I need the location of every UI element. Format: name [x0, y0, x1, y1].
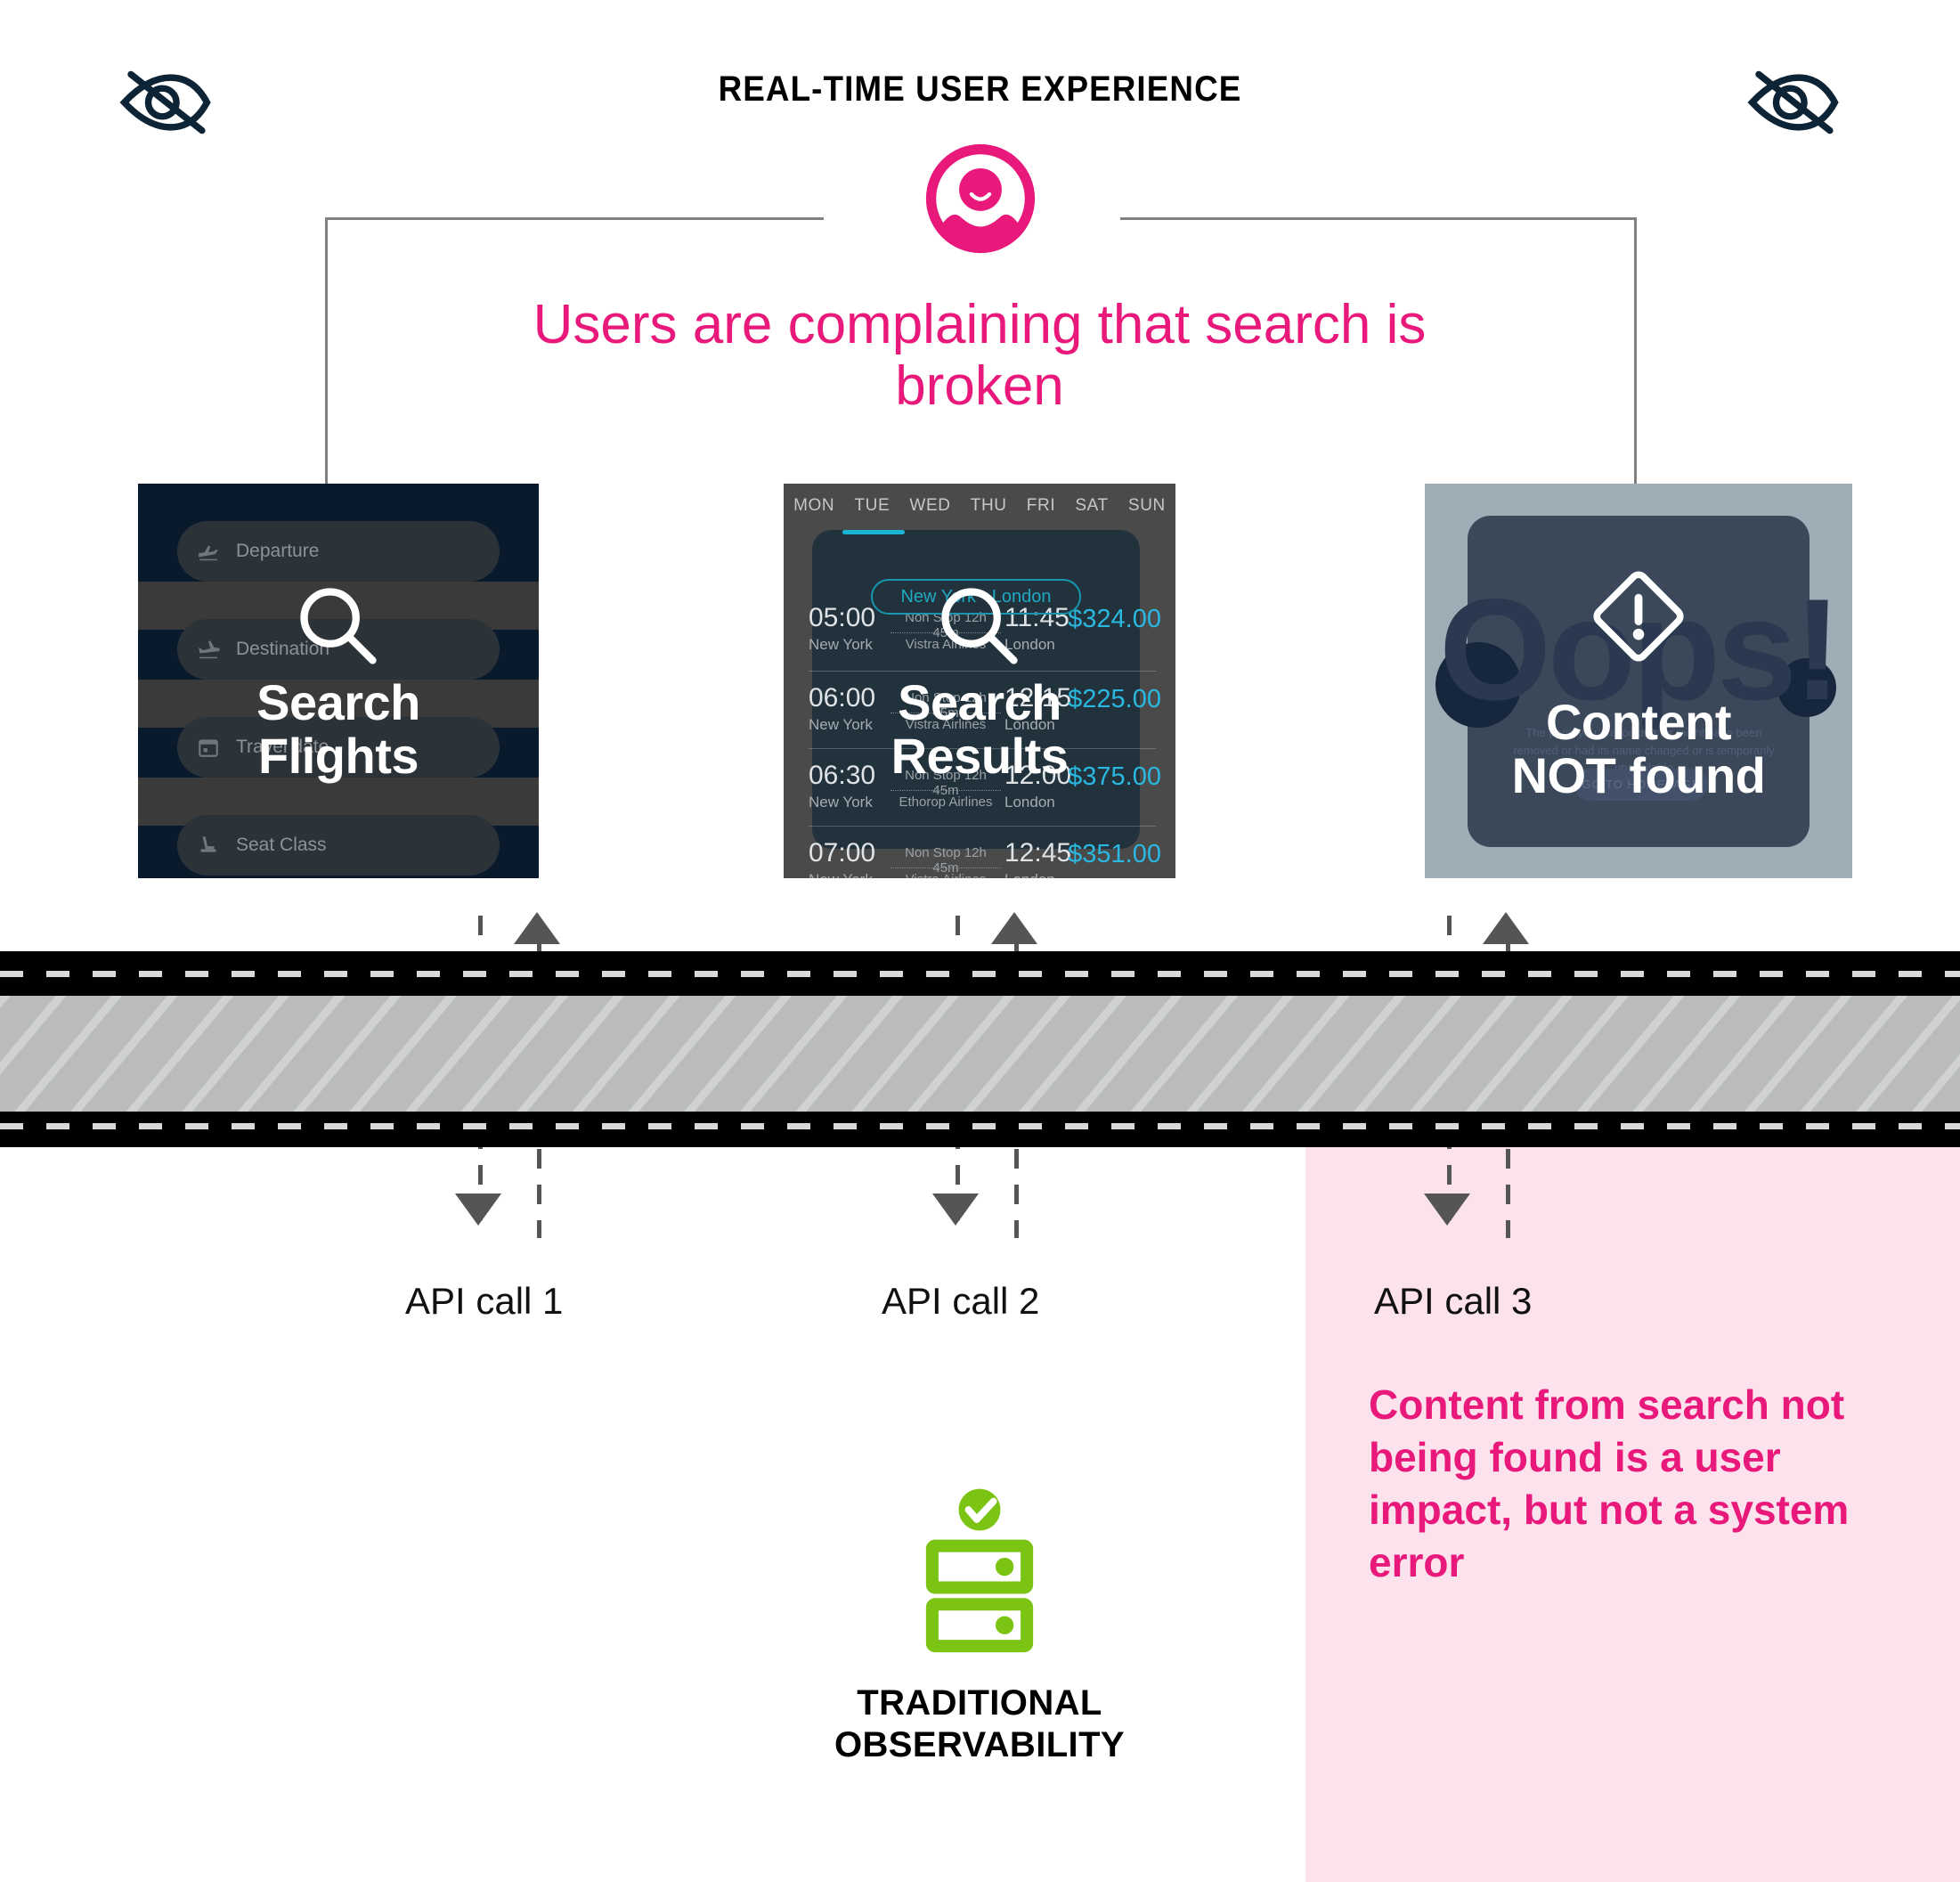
server-rack-icon: [908, 1654, 1051, 1669]
arrive-time: 12:15: [1004, 683, 1071, 713]
band-top-dashes: [0, 971, 1960, 977]
seat-class-field[interactable]: Seat Class: [177, 815, 500, 876]
arrive-time: 12:00: [1004, 761, 1071, 791]
oops-text: Oops!: [1425, 578, 1852, 722]
arrive-city: London: [1004, 636, 1055, 654]
api-call-1-up-arrow: [514, 912, 560, 944]
price: $351.00: [1068, 840, 1161, 869]
traditional-line-1: TRADITIONAL: [712, 1682, 1247, 1724]
depart-time: 07:00: [809, 838, 875, 868]
api-call-1-label: API call 1: [405, 1280, 563, 1323]
traditional-observability-block: TRADITIONAL OBSERVABILITY: [712, 1487, 1247, 1766]
flight-row[interactable]: 06:00 New York Non Stop 12h 45m Vistra A…: [784, 671, 1175, 749]
connector-right-horizontal: [1120, 217, 1637, 220]
flight-row[interactable]: 07:00 New York Non Stop 12h 45m Vistra A…: [784, 826, 1175, 878]
active-day-underline: [842, 530, 905, 534]
arrive-city: London: [1004, 871, 1055, 878]
arrive-time: 12:45: [1004, 838, 1071, 868]
page-title: REAL-TIME USER EXPERIENCE: [78, 69, 1882, 110]
price: $225.00: [1068, 685, 1161, 714]
go-home-label: GO TO HOMEPAGE: [1574, 769, 1708, 801]
airline: Vistra Airlines: [882, 717, 1010, 732]
eye-off-icon: [116, 68, 216, 137]
go-home-button[interactable]: GO TO HOMEPAGE: [1574, 769, 1708, 801]
duration-rule: [891, 713, 1001, 713]
flight-row[interactable]: 06:30 New York Non Stop 12h 45m Ethorop …: [784, 748, 1175, 827]
card-content-not-found[interactable]: Oops! The page you are looking for might…: [1425, 484, 1852, 878]
route-chip[interactable]: New York - London: [871, 579, 1081, 615]
connector-right-vertical: [1634, 217, 1637, 485]
row-divider: [809, 671, 1156, 672]
duration: Non Stop 12h 45m: [891, 845, 1001, 876]
api-call-3-up-arrow: [1483, 912, 1529, 944]
calendar-icon: [197, 736, 220, 759]
depart-city: New York: [809, 871, 873, 878]
row-divider: [809, 748, 1156, 749]
row-divider: [809, 826, 1156, 827]
duration-rule: [891, 632, 1001, 633]
diagram-canvas: REAL-TIME USER EXPERIENCE Users are comp…: [0, 0, 1960, 1882]
depart-city: New York: [809, 636, 873, 654]
depart-city: New York: [809, 716, 873, 734]
duration: Non Stop 12h 45m: [891, 610, 1001, 640]
price: $375.00: [1068, 762, 1161, 792]
band-hatch: [0, 996, 1960, 1112]
traditional-line-2: OBSERVABILITY: [712, 1724, 1247, 1766]
tab-sat[interactable]: SAT: [1075, 496, 1108, 516]
airline: Ethorop Airlines: [882, 794, 1010, 810]
duration: Non Stop 12h 45m: [891, 690, 1001, 721]
user-impact-callout: Content from search not being found is a…: [1369, 1379, 1850, 1589]
destination-label: Destination: [236, 639, 329, 660]
tab-thu[interactable]: THU: [971, 496, 1007, 516]
api-call-3-label: API call 3: [1374, 1280, 1532, 1323]
seat-icon: [197, 834, 220, 857]
user-sad-icon: [924, 143, 1037, 255]
api-call-2-up-arrow: [991, 912, 1037, 944]
plane-landing-icon: [197, 638, 220, 661]
api-call-3-down-arrow: [1424, 1194, 1470, 1226]
travel-date-label: Travel date: [236, 737, 329, 758]
api-call-2-label: API call 2: [882, 1280, 1039, 1323]
tab-wed[interactable]: WED: [909, 496, 950, 516]
depart-city: New York: [809, 794, 873, 811]
arrive-city: London: [1004, 794, 1055, 811]
airline: Vistra Airlines: [882, 872, 1010, 878]
headline-text: Users are complaining that search is bro…: [499, 294, 1460, 418]
plane-takeoff-icon: [197, 540, 220, 563]
observability-blind-spot-band: [0, 951, 1960, 1147]
departure-label: Departure: [236, 541, 319, 562]
duration-rule: [891, 790, 1001, 791]
connector-left-vertical: [325, 217, 328, 485]
card-search-flights[interactable]: Departure Destination Travel date Seat C…: [138, 484, 539, 878]
api-call-1-down-arrow: [455, 1194, 501, 1226]
destination-field[interactable]: Destination: [177, 619, 500, 680]
seat-class-label: Seat Class: [236, 835, 327, 856]
tab-sun[interactable]: SUN: [1128, 496, 1166, 516]
departure-field[interactable]: Departure: [177, 521, 500, 582]
airline: Vistra Airlines: [882, 637, 1010, 652]
duration-rule: [891, 868, 1001, 868]
price: $324.00: [1068, 605, 1161, 634]
api-call-2-down-arrow: [932, 1194, 979, 1226]
depart-time: 06:00: [809, 683, 875, 713]
duration: Non Stop 12h 45m: [891, 768, 1001, 798]
tab-mon[interactable]: MON: [793, 496, 834, 516]
travel-date-field[interactable]: Travel date: [177, 717, 500, 778]
arrive-city: London: [1004, 716, 1055, 734]
weekday-tabs[interactable]: MON TUE WED THU FRI SAT SUN: [784, 484, 1175, 528]
traditional-observability-label: TRADITIONAL OBSERVABILITY: [712, 1682, 1247, 1766]
depart-time: 05:00: [809, 603, 875, 633]
band-bottom-bar: [0, 1112, 1960, 1147]
band-bottom-dashes: [0, 1123, 1960, 1129]
tab-tue[interactable]: TUE: [854, 496, 890, 516]
tab-fri[interactable]: FRI: [1027, 496, 1055, 516]
depart-time: 06:30: [809, 761, 875, 791]
card-search-results[interactable]: MON TUE WED THU FRI SAT SUN New York - L…: [784, 484, 1175, 878]
connector-left-horizontal: [325, 217, 824, 220]
eye-off-icon: [1744, 68, 1843, 137]
